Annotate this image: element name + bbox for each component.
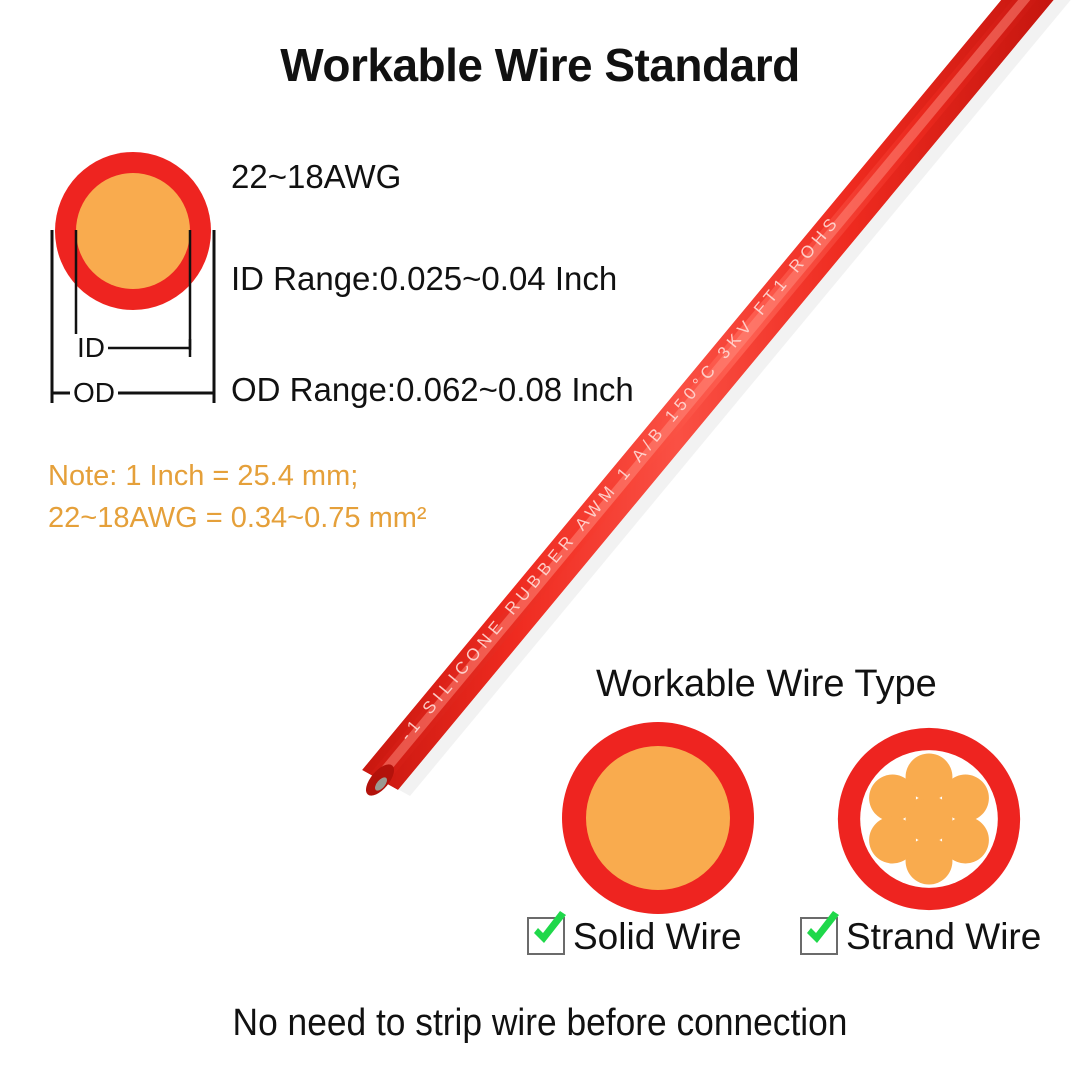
solid-wire-option[interactable]: Solid Wire [527,917,742,955]
bottom-caption: No need to strip wire before connection [38,1002,1042,1045]
note-line-2: 22~18AWG = 0.34~0.75 mm² [48,497,427,539]
wire-type-heading: Workable Wire Type [596,663,937,706]
solid-wire-figure [562,722,754,914]
id-dimension-label: ID [74,334,108,362]
strand-wire-figure [836,726,1022,912]
checkbox-strand-wire[interactable] [800,917,838,955]
page-title: Workable Wire Standard [0,38,1080,92]
check-icon [525,908,573,956]
id-range-text: ID Range:0.025~0.04 Inch [231,262,617,295]
conversion-note: Note: 1 Inch = 25.4 mm; 22~18AWG = 0.34~… [48,455,427,539]
checkbox-solid-wire[interactable] [527,917,565,955]
note-line-1: Note: 1 Inch = 25.4 mm; [48,455,427,497]
wire-cut-end [361,760,399,801]
od-range-text: OD Range:0.062~0.08 Inch [231,373,634,406]
awg-range-text: 22~18AWG [231,160,401,193]
infographic-page: -1 SILICONE RUBBER AWM 1 A/B 150°C 3KV F… [0,0,1080,1080]
wire-conductor-end [373,775,389,792]
solid-wire-label: Solid Wire [573,918,742,955]
od-dimension-label: OD [70,379,118,407]
solid-wire-conductor [586,746,730,890]
check-icon [798,908,846,956]
strand-wire-label: Strand Wire [846,918,1041,955]
strand-wire-option[interactable]: Strand Wire [800,917,1041,955]
